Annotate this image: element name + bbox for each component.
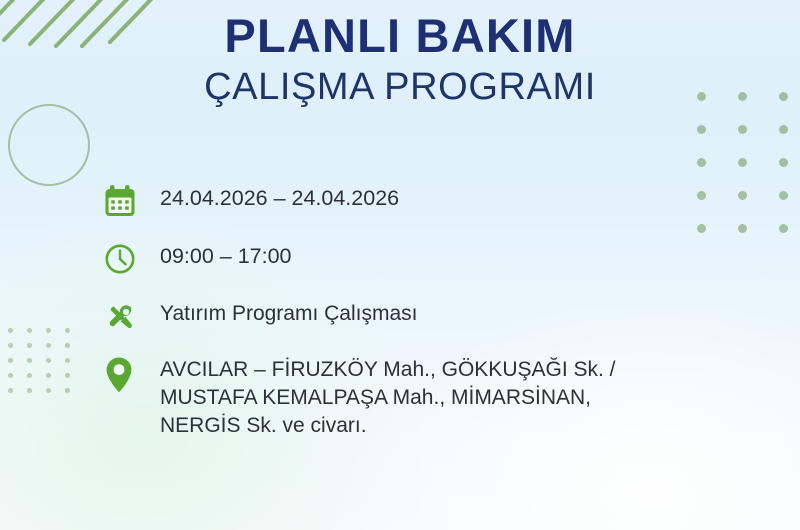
detail-row-date: 24.04.2026 – 24.04.2026 [104, 182, 744, 218]
clock-icon [104, 240, 160, 276]
detail-row-work-type: Yatırım Programı Çalışması [104, 298, 744, 334]
detail-value-work-type: Yatırım Programı Çalışması [160, 298, 418, 328]
maintenance-details-list: 24.04.2026 – 24.04.2026 09:00 – 17:00 [104, 182, 744, 440]
page-subtitle: ÇALIŞMA PROGRAMI [0, 68, 800, 106]
location-pin-icon [104, 354, 160, 394]
dot-grid-left-decoration [8, 328, 84, 403]
detail-value-time: 09:00 – 17:00 [160, 240, 292, 271]
detail-row-time: 09:00 – 17:00 [104, 240, 744, 276]
page-title: PLANLI BAKIM [0, 12, 800, 59]
tools-icon [104, 298, 160, 334]
calendar-icon [104, 182, 160, 218]
circle-outline-decoration [8, 104, 90, 186]
poster-heading: PLANLI BAKIM ÇALIŞMA PROGRAMI [0, 12, 800, 106]
planned-maintenance-poster: PLANLI BAKIM ÇALIŞMA PROGRAMI [0, 0, 800, 530]
detail-value-affected-area: AVCILAR – FİRUZKÖY Mah., GÖKKUŞAĞI Sk. /… [160, 354, 616, 440]
detail-row-affected-area: AVCILAR – FİRUZKÖY Mah., GÖKKUŞAĞI Sk. /… [104, 354, 744, 440]
detail-value-date: 24.04.2026 – 24.04.2026 [160, 182, 399, 213]
